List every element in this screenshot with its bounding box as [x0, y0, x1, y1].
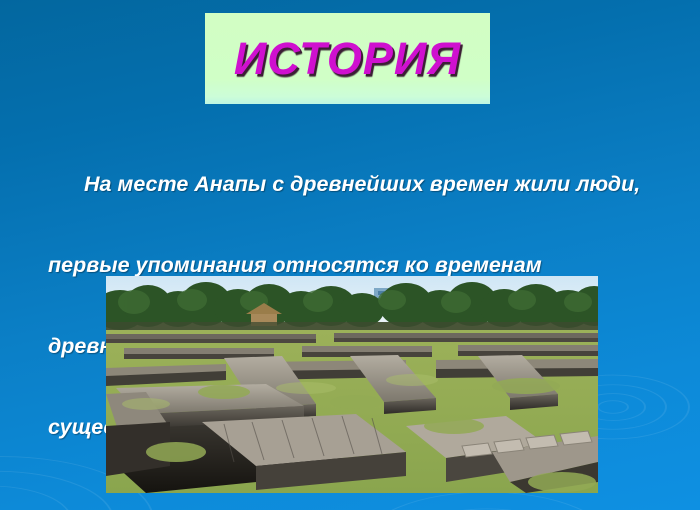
body-line-1: На месте Анапы с древнейших времен жили …	[48, 171, 666, 198]
excavation-photo	[106, 276, 598, 493]
presentation-slide: ИСТОРИЯ На месте Анапы с древнейших врем…	[0, 0, 700, 510]
body-line-2: первые упоминания относятся ко временам	[48, 252, 666, 279]
excavation-photo-image	[106, 276, 598, 493]
slide-title-box: ИСТОРИЯ	[205, 13, 490, 104]
slide-title: ИСТОРИЯ	[234, 36, 461, 81]
